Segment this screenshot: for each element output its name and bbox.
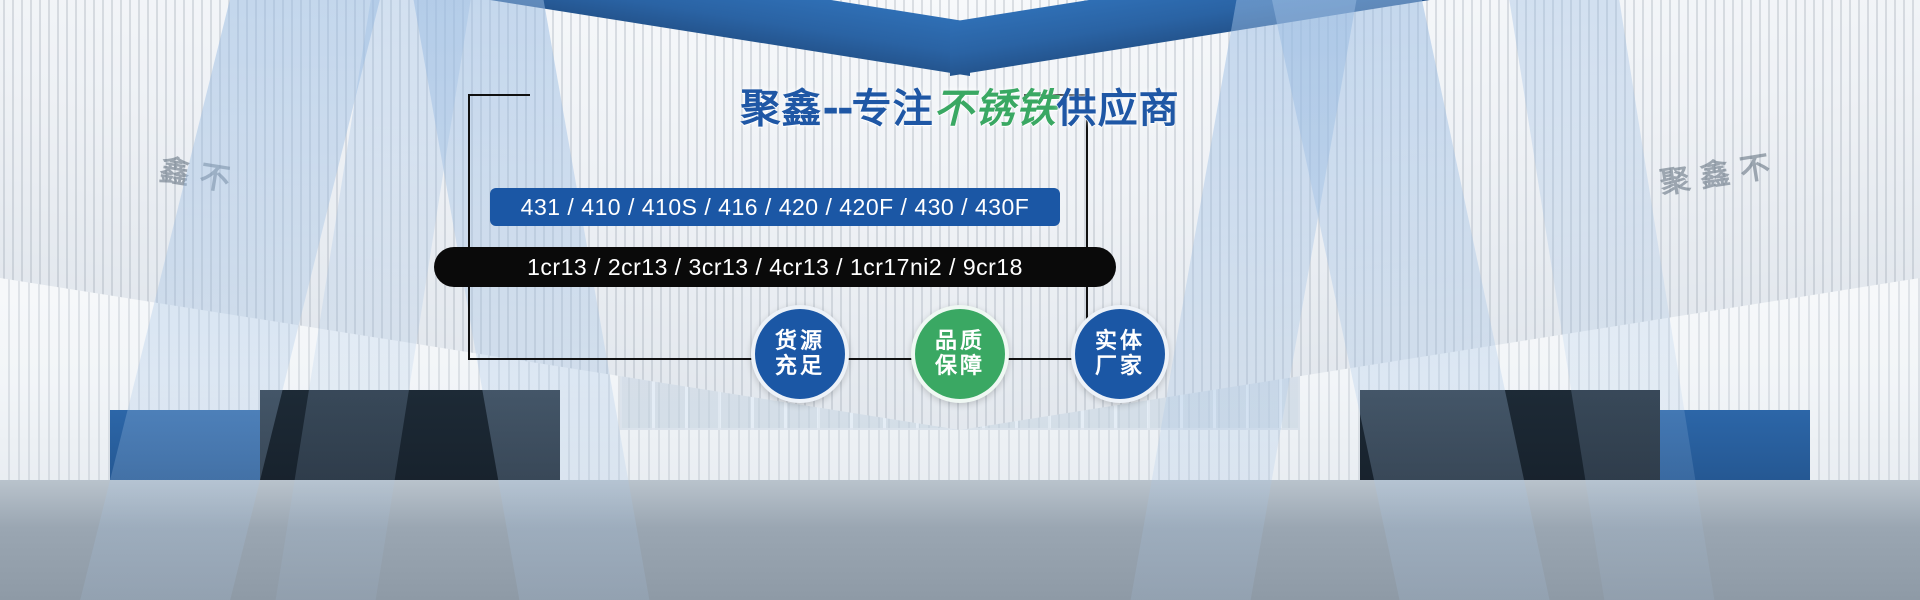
headline-focus: 专注 (852, 86, 934, 132)
badge-supply-line1: 货源 (775, 329, 825, 354)
headline-highlight: 不锈铁 (934, 86, 1057, 132)
promo-banner: 鑫 不 聚 鑫 不 聚鑫--专注不锈铁供应商 431 / 410 / 410S … (0, 0, 1920, 600)
banner-headline: 聚鑫--专注不锈铁供应商 (0, 76, 1920, 134)
badge-supply-line2: 充足 (775, 354, 825, 379)
steel-grades-secondary-bar: 1cr13 / 2cr13 / 3cr13 / 4cr13 / 1cr17ni2… (434, 247, 1116, 287)
badge-factory-line1: 实体 (1095, 329, 1145, 354)
badge-quality-line2: 保障 (935, 354, 985, 379)
badge-factory-line2: 厂家 (1095, 354, 1145, 379)
badge-quality-line1: 品质 (935, 329, 985, 354)
feature-badge-group: 货源 充足 品质 保障 实体 厂家 (0, 305, 1920, 403)
banner-content: 聚鑫--专注不锈铁供应商 431 / 410 / 410S / 416 / 42… (0, 0, 1920, 600)
badge-quality: 品质 保障 (911, 305, 1009, 403)
badge-factory: 实体 厂家 (1071, 305, 1169, 403)
headline-brand: 聚鑫 (740, 86, 822, 132)
headline-supplier: 供应商 (1057, 86, 1180, 132)
steel-grades-primary-bar: 431 / 410 / 410S / 416 / 420 / 420F / 43… (490, 188, 1060, 226)
headline-dash: -- (822, 86, 851, 132)
badge-supply: 货源 充足 (751, 305, 849, 403)
